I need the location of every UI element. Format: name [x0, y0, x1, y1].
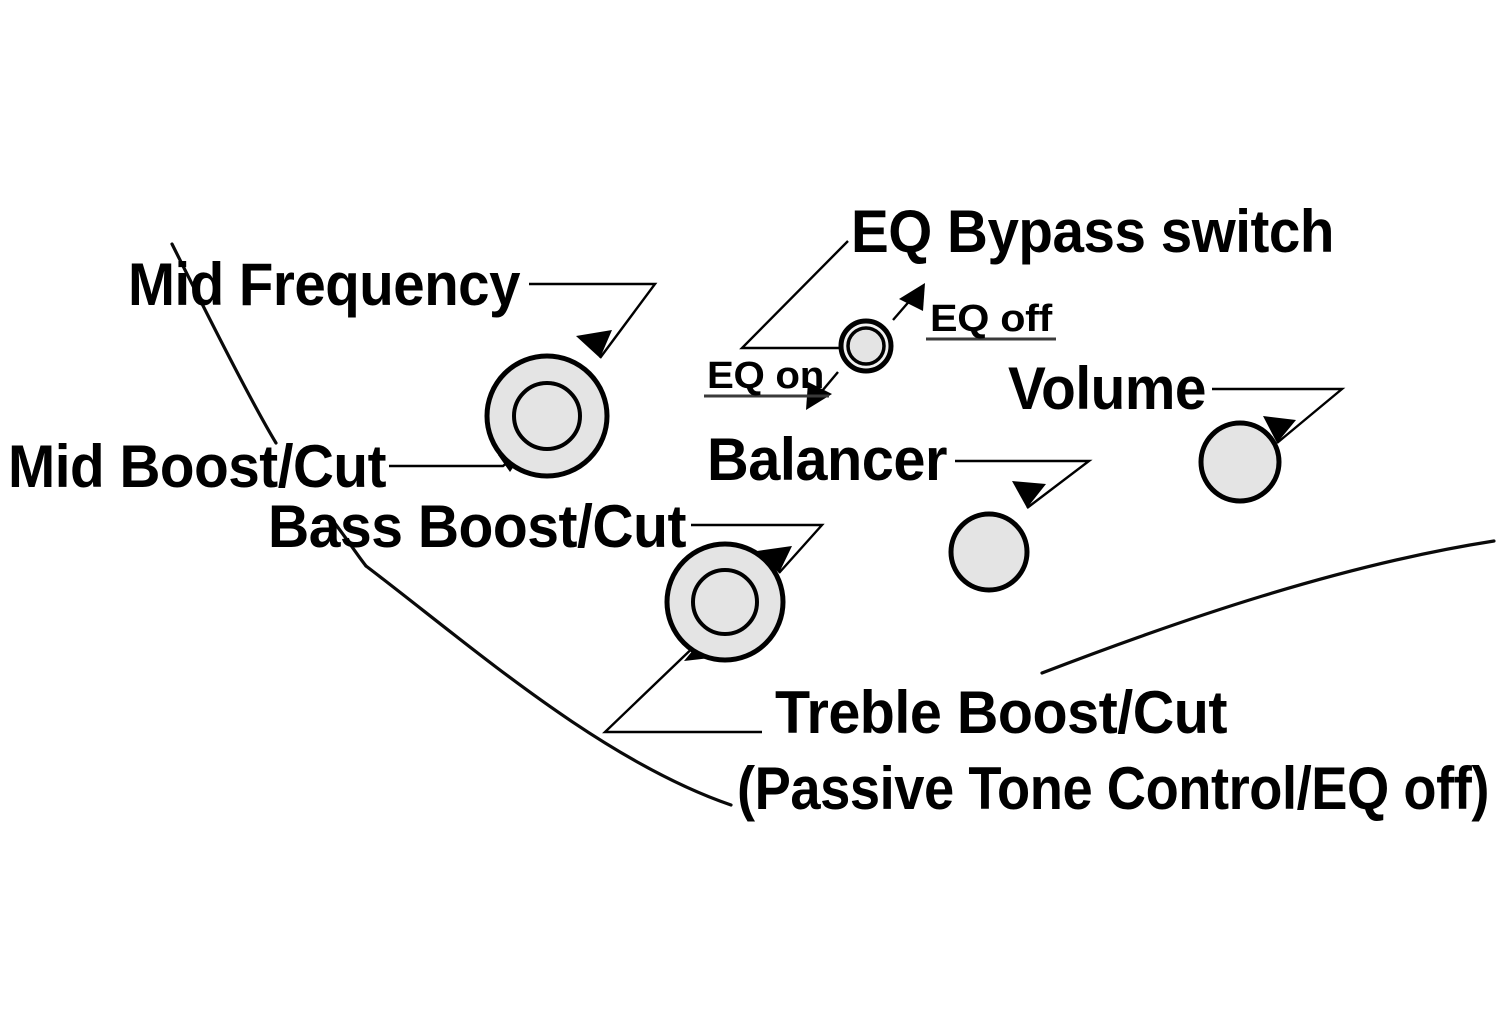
- eq-bypass-switch[interactable]: [841, 321, 891, 371]
- label-mid-frequency: Mid Frequency: [128, 251, 521, 318]
- label-treble-boost-cut: Treble Boost/Cut: [775, 679, 1227, 746]
- label-treble-sub: (Passive Tone Control/EQ off): [737, 755, 1489, 822]
- mid-knob-inner-ring[interactable]: [514, 383, 580, 449]
- label-bass-boost-cut: Bass Boost/Cut: [268, 493, 686, 560]
- volume-knob[interactable]: [1201, 423, 1279, 501]
- bass-treble-knob-inner-ring[interactable]: [693, 570, 757, 634]
- body-outline-lower-right: [1042, 541, 1494, 673]
- mid-knob[interactable]: [487, 356, 607, 476]
- label-eq-bypass-switch: EQ Bypass switch: [851, 198, 1334, 265]
- diagram-canvas: Mid Frequency Mid Boost/Cut Bass Boost/C…: [0, 0, 1500, 1031]
- label-eq-on: EQ on: [707, 355, 824, 397]
- label-balancer: Balancer: [707, 426, 947, 493]
- label-eq-off: EQ off: [930, 298, 1053, 340]
- bass-treble-knob[interactable]: [667, 544, 783, 660]
- label-volume: Volume: [1008, 355, 1206, 422]
- mid-frequency-arrowhead: [576, 330, 612, 358]
- label-mid-boost-cut: Mid Boost/Cut: [8, 433, 386, 500]
- balancer-arrowhead: [1012, 481, 1046, 508]
- control-layout-diagram: Mid Frequency Mid Boost/Cut Bass Boost/C…: [0, 0, 1500, 1031]
- balancer-knob[interactable]: [951, 514, 1027, 590]
- eq-bypass-switch-cap[interactable]: [848, 328, 884, 364]
- eq-bypass-switch-leader-line: [742, 241, 848, 348]
